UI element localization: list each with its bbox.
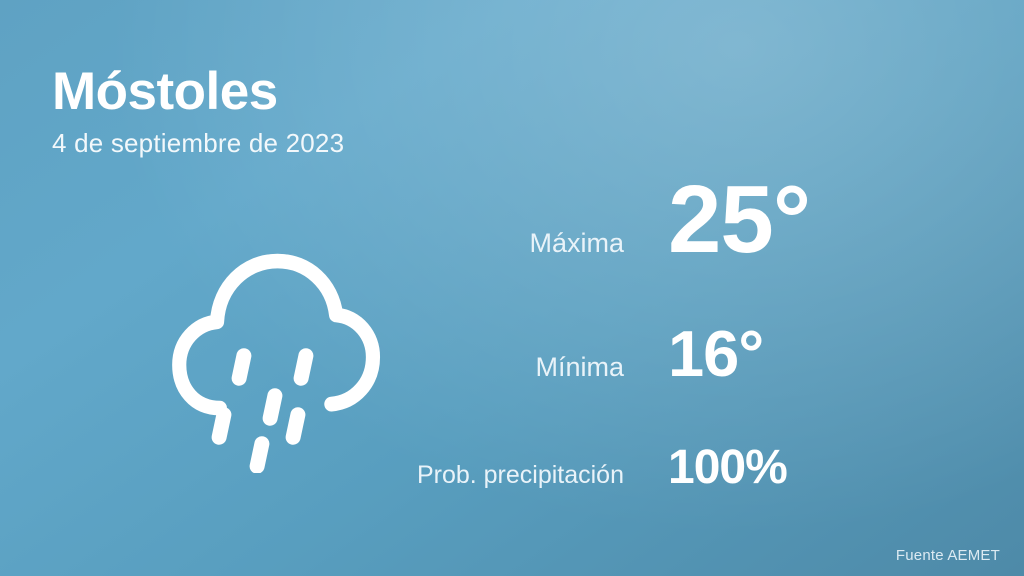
reading-label-maxima: Máxima (300, 228, 668, 259)
reading-label-precipitacion: Prob. precipitación (300, 461, 668, 490)
reading-value-precipitacion: 100% (668, 446, 787, 490)
reading-label-minima: Mínima (300, 352, 668, 383)
reading-row-precipitacion: Prob. precipitación 100% (300, 446, 960, 490)
city-name: Móstoles (52, 64, 344, 120)
reading-row-maxima: Máxima 25° (300, 176, 960, 264)
source-attribution: Fuente AEMET (896, 547, 1000, 564)
readings-list: Máxima 25° Mínima 16° Prob. precipitació… (300, 176, 960, 490)
card-header: Móstoles 4 de septiembre de 2023 (52, 64, 344, 159)
forecast-date: 4 de septiembre de 2023 (52, 128, 344, 159)
weather-card: Móstoles 4 de septiembre de 2023 Máxima … (0, 0, 1024, 576)
reading-value-minima: 16° (668, 324, 763, 384)
reading-value-maxima: 25° (668, 176, 810, 264)
reading-row-minima: Mínima 16° (300, 324, 960, 384)
